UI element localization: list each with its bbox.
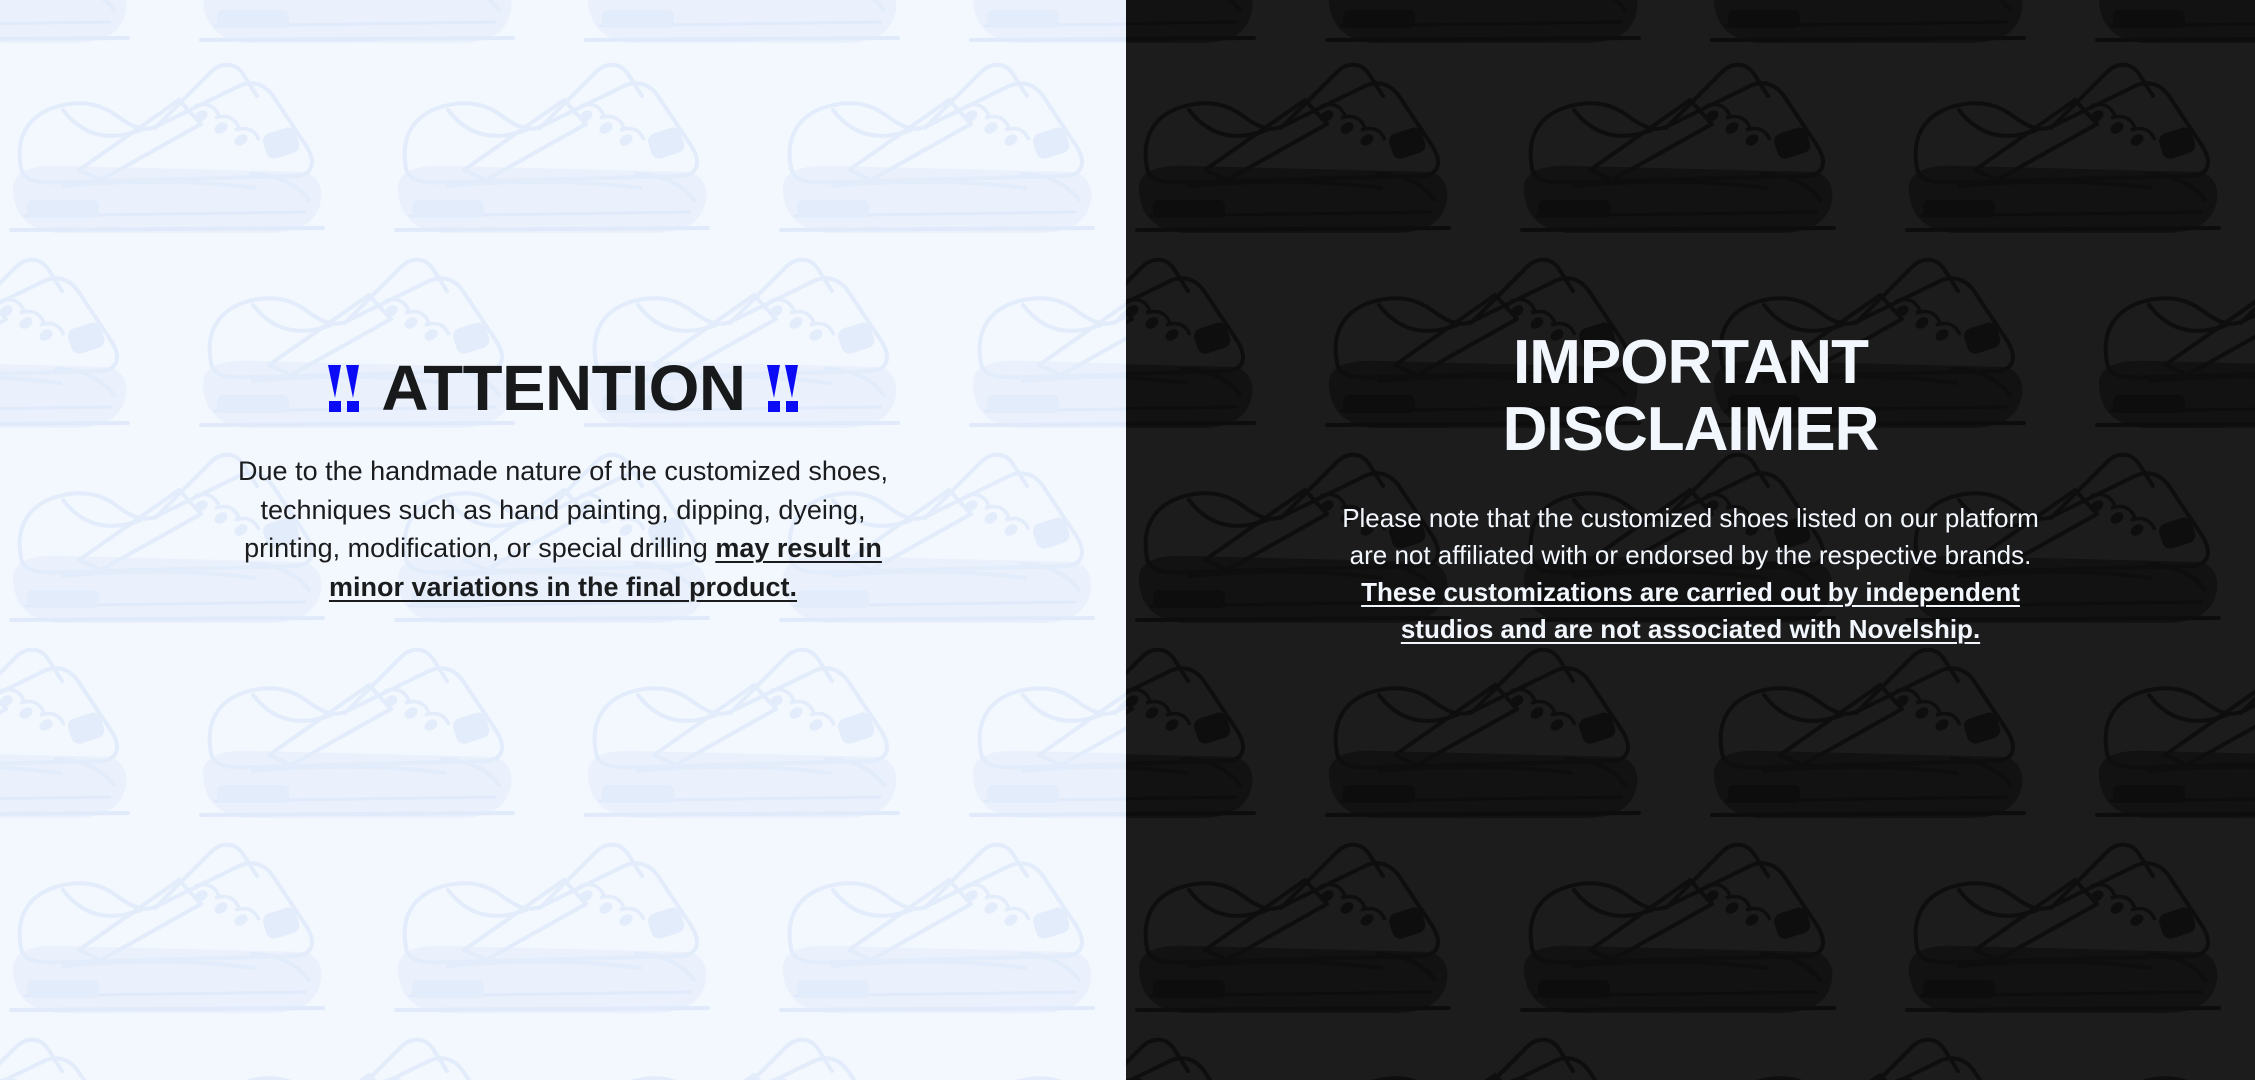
disclaimer-content: IMPORTANT DISCLAIMER Please note that th… bbox=[1126, 0, 2255, 649]
disclaimer-body-emphasis: These customizations are carried out by … bbox=[1361, 577, 2020, 644]
double-exclamation-left-icon bbox=[328, 365, 359, 412]
disclaimer-body-lead: Please note that the customized shoes li… bbox=[1342, 503, 2039, 570]
disclaimer-heading-line-1: IMPORTANT bbox=[1503, 330, 1879, 397]
disclaimer-body: Please note that the customized shoes li… bbox=[1341, 500, 2041, 649]
disclaimer-heading-line-2: DISCLAIMER bbox=[1503, 397, 1879, 464]
double-exclamation-right-icon bbox=[767, 365, 798, 412]
disclaimer-panel: IMPORTANT DISCLAIMER Please note that th… bbox=[1126, 0, 2255, 1080]
disclaimer-heading: IMPORTANT DISCLAIMER bbox=[1503, 330, 1879, 464]
attention-heading: ATTENTION bbox=[328, 356, 799, 420]
attention-content: ATTENTION Due to the handmade nature of … bbox=[0, 0, 1126, 606]
attention-panel: ATTENTION Due to the handmade nature of … bbox=[0, 0, 1126, 1080]
attention-heading-label: ATTENTION bbox=[381, 356, 745, 420]
customization-notice-banner: ATTENTION Due to the handmade nature of … bbox=[0, 0, 2255, 1080]
attention-body: Due to the handmade nature of the custom… bbox=[213, 452, 913, 606]
